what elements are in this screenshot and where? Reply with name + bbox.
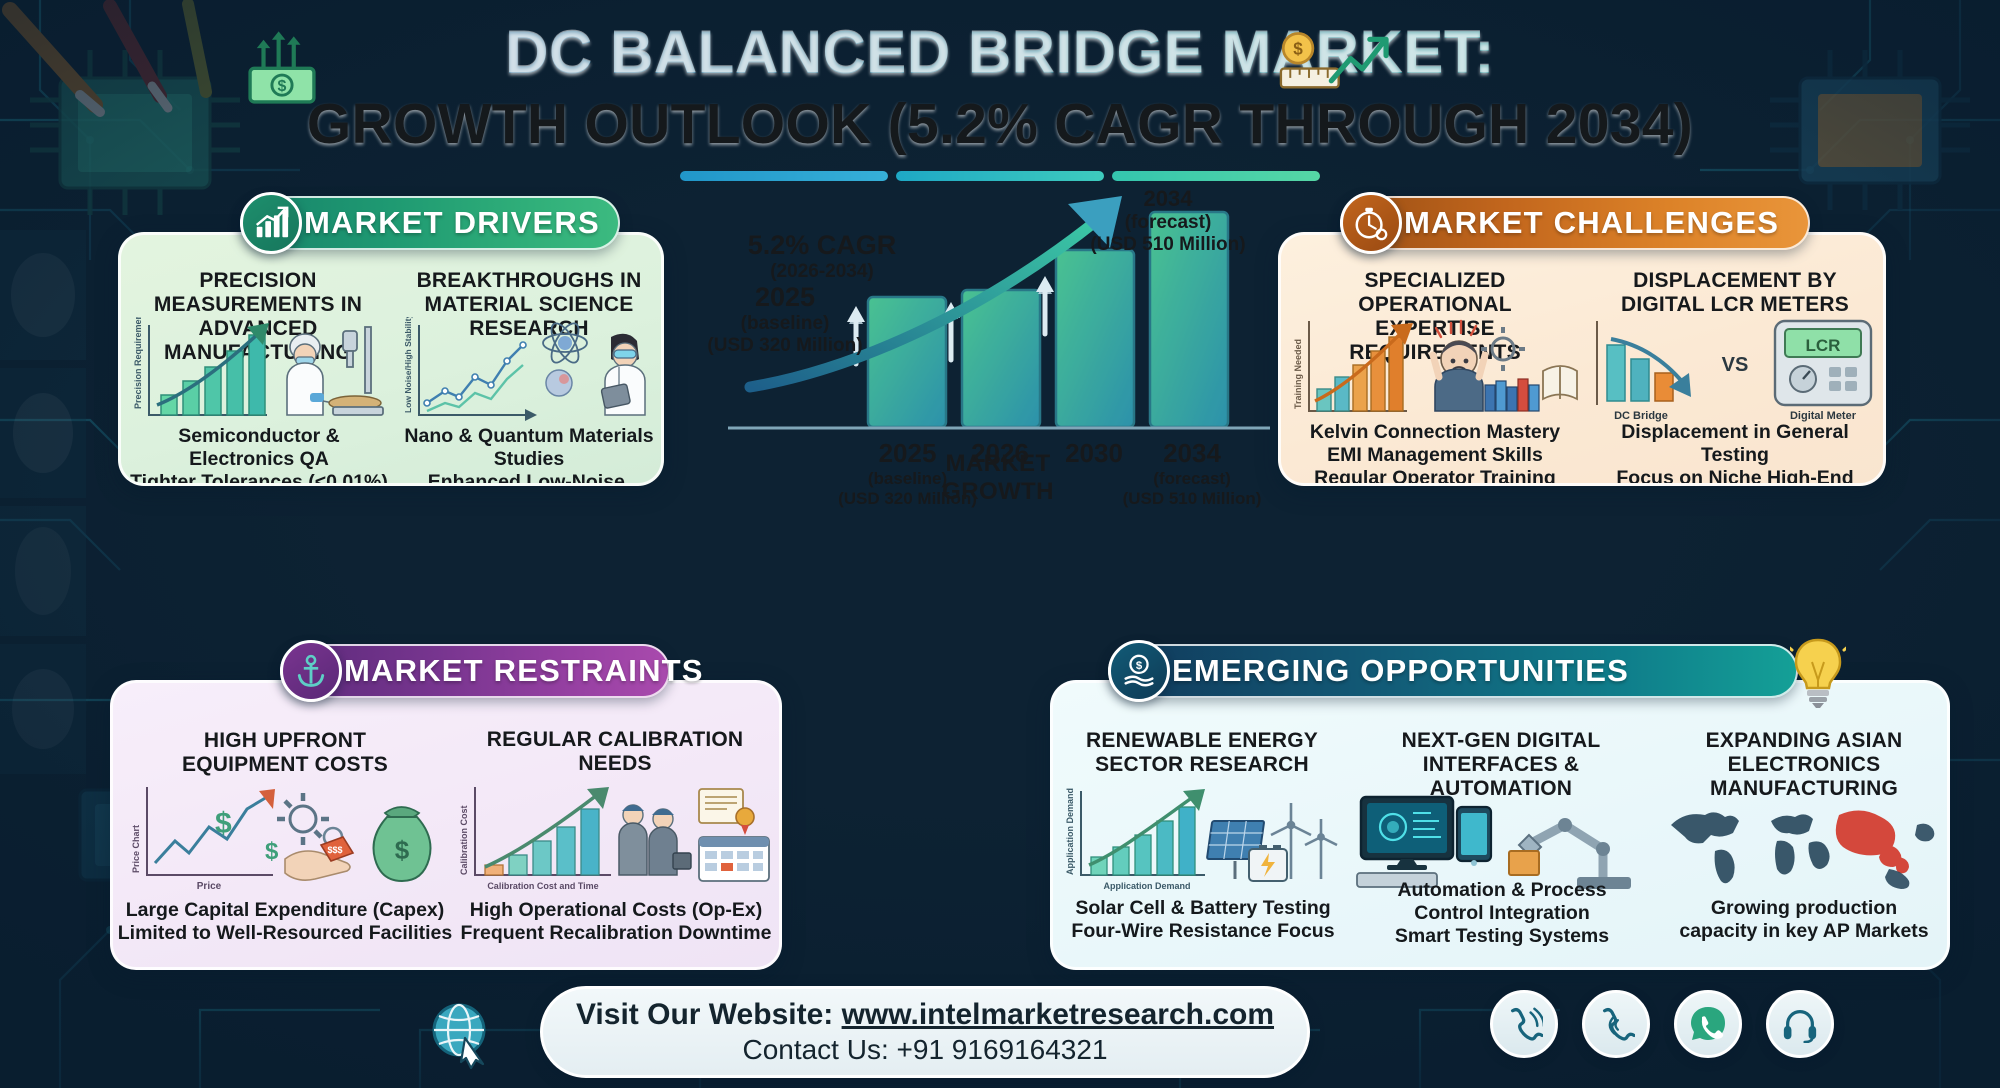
chart-center-label: MARKET GROWTH [908, 450, 1088, 506]
whatsapp-icon[interactable] [1674, 990, 1742, 1058]
challenges-ribbon-label: MARKET CHALLENGES [1404, 205, 1779, 241]
page-title-line1: DC BALANCED BRIDGE MARKET: [300, 18, 1700, 87]
baseline-tag: (baseline) [670, 313, 900, 335]
svg-text:$: $ [395, 835, 410, 865]
forecast-value: (USD 510 Million) [1048, 234, 1288, 256]
phone-ring-icon[interactable] [1490, 990, 1558, 1058]
svg-text:Training Needed: Training Needed [1293, 339, 1303, 409]
svg-text:Calibration Cost: Calibration Cost [459, 805, 469, 875]
website-link[interactable]: www.intelmarketresearch.com [842, 998, 1274, 1031]
cagr-value: 5.2% CAGR [712, 230, 932, 261]
cagr-period: (2026-2034) [712, 261, 932, 283]
restraints-ribbon-label: MARKET RESTRAINTS [344, 653, 704, 689]
svg-text:$: $ [1136, 660, 1143, 672]
footer-contact-box: Visit Our Website: www.intelmarketresear… [540, 986, 1310, 1078]
opps-col1-title: RENEWABLE ENERGY SECTOR RESEARCH [1057, 729, 1347, 777]
lightbulb-icon [1790, 636, 1846, 708]
svg-text:$: $ [265, 838, 279, 865]
infographic-header: DC BALANCED BRIDGE MARKET: GROWTH OUTLOO… [300, 18, 1700, 181]
emerging-opportunities-panel: RENEWABLE ENERGY SECTOR RESEARCH NEXT-GE… [1050, 680, 1950, 970]
svg-text:Application Demand: Application Demand [1065, 788, 1075, 875]
svg-text:$: $ [278, 78, 287, 95]
money-growth-icon: $ [240, 28, 324, 112]
opps-panel-body: RENEWABLE ENERGY SECTOR RESEARCH NEXT-GE… [1050, 680, 1950, 970]
world-map-asia-highlight-icon [1653, 795, 1949, 891]
opps-column-1: RENEWABLE ENERGY SECTOR RESEARCH [1057, 729, 1347, 777]
market-challenges-panel: SPECIALIZED OPERATIONAL EXPERTISE REQUIR… [1278, 232, 1886, 486]
challenges-col2-caption: Displacement in General Testing Focus on… [1585, 421, 1885, 486]
challenges-panel-body: SPECIALIZED OPERATIONAL EXPERTISE REQUIR… [1278, 232, 1886, 486]
opps-column-3: EXPANDING ASIAN ELECTRONICS MANUFACTURIN… [1659, 729, 1949, 801]
header-accent-bars [680, 171, 1320, 181]
baseline-year: 2025 [670, 282, 900, 313]
drivers-col2-caption: Nano & Quantum Materials Studies Enhance… [393, 425, 664, 486]
challenges-column-2: DISPLACEMENT BY DIGITAL LCR METERS [1587, 269, 1883, 317]
market-challenges-ribbon: MARKET CHALLENGES [1340, 196, 1810, 250]
stopwatch-gear-icon [1340, 192, 1402, 254]
social-contact-icons [1490, 990, 1834, 1058]
svg-text:$$$: $$$ [327, 845, 342, 855]
emerging-opportunities-ribbon: EMERGING OPPORTUNITIES [1108, 644, 1798, 698]
restraints-col2-title-real: REGULAR CALIBRATION NEEDS [453, 728, 777, 776]
technicians-certificate-calendar-icon: Calibration Cost Calibration Cost and Ti… [455, 783, 779, 895]
opps-col2-caption: Automation & Process Control Integration… [1349, 879, 1655, 948]
drivers-panel-body: PRECISION MEASUREMENTS IN ADVANCED MANUF… [118, 232, 664, 486]
x-tick-2034: 2034 (forecast) (USD 510 Million) [1094, 438, 1290, 509]
svg-text:VS: VS [1722, 354, 1749, 376]
dc-bridge-vs-lcr-meter-icon: DC Bridge VS LCR Digital Meter [1589, 315, 1881, 423]
svg-text:$: $ [1293, 39, 1303, 59]
forecast-tag: (forecast) [1048, 212, 1288, 234]
drivers-ribbon-label: MARKET DRIVERS [304, 205, 600, 241]
chart-baseline-annotation: 2025 (baseline) (USD 320 Million) [670, 282, 900, 357]
restraints-col2-caption: High Operational Costs (Op-Ex) Frequent … [451, 899, 781, 945]
svg-text:Precision Requirements: Precision Requirements [133, 317, 143, 409]
chart-center-label-line1: MARKET [908, 450, 1088, 478]
growth-arrow-icon [1318, 26, 1392, 100]
bar-chart-growth-icon [240, 192, 302, 254]
money-bag-dollar-hand-icon: Price Chart Price $ $ $$$ [123, 783, 449, 895]
market-restraints-panel: HIGH UPFRONT EQUIPMENT COSTS HIGH UPFRON… [110, 680, 782, 970]
restraints-col1-title: HIGH UPFRONT EQUIPMENT COSTS [121, 729, 449, 777]
svg-text:Price: Price [197, 881, 222, 892]
atom-scientist-icon: Low Noise/High Stability [397, 317, 661, 423]
footer-website-prefix: Visit Our Website: [576, 998, 842, 1031]
footer-website-line: Visit Our Website: www.intelmarketresear… [576, 998, 1274, 1032]
opps-ribbon-label: EMERGING OPPORTUNITIES [1172, 653, 1629, 689]
hand-holding-coin-icon: $ [1108, 640, 1170, 702]
restraints-column-2: HIGH UPFRONT REGULAR CALIBRATION NEEDS [453, 729, 777, 776]
market-growth-chart: 5.2% CAGR (2026-2034) 2025 (baseline) (U… [670, 182, 1290, 612]
baseline-value: (USD 320 Million) [670, 335, 900, 357]
opps-col3-caption: Growing production capacity in key AP Ma… [1657, 897, 1950, 943]
chart-cagr-annotation: 5.2% CAGR (2026-2034) [712, 230, 932, 283]
accent-bar-1 [680, 171, 888, 181]
cleanroom-technician-microscope-icon: Precision Requirements [127, 317, 391, 423]
forecast-year: 2034 [1048, 186, 1288, 212]
page-title-line2: GROWTH OUTLOOK (5.2% CAGR THROUGH 2034) [300, 91, 1700, 157]
accent-bar-2 [896, 171, 1104, 181]
market-drivers-panel: PRECISION MEASUREMENTS IN ADVANCED MANUF… [118, 232, 664, 486]
restraints-col1-caption: Large Capital Expenditure (Capex) Limite… [117, 899, 453, 945]
opps-col3-title: EXPANDING ASIAN ELECTRONICS MANUFACTURIN… [1659, 729, 1949, 801]
svg-text:Calibration Cost and Time: Calibration Cost and Time [487, 881, 598, 891]
restraints-panel-body: HIGH UPFRONT EQUIPMENT COSTS HIGH UPFRON… [110, 680, 782, 970]
svg-text:LCR: LCR [1806, 336, 1841, 355]
footer-contact-line: Contact Us: +91 9169164321 [742, 1034, 1107, 1066]
chart-forecast-annotation: 2034 (forecast) (USD 510 Million) [1048, 186, 1288, 256]
restraints-column-1: HIGH UPFRONT EQUIPMENT COSTS [121, 729, 449, 777]
headset-support-icon[interactable] [1766, 990, 1834, 1058]
chart-center-label-line2: GROWTH [908, 478, 1088, 506]
globe-cursor-icon [425, 998, 497, 1070]
phone-signal-icon[interactable] [1582, 990, 1650, 1058]
challenges-col2-title: DISPLACEMENT BY DIGITAL LCR METERS [1587, 269, 1883, 317]
svg-text:$: $ [215, 807, 232, 840]
challenges-col1-caption: Kelvin Connection Mastery EMI Management… [1285, 421, 1585, 486]
opps-col1-caption: Solar Cell & Battery Testing Four-Wire R… [1057, 897, 1349, 943]
accent-bar-3 [1112, 171, 1320, 181]
solar-panel-wind-battery-icon: Application Demand Application Demand [1059, 787, 1347, 895]
svg-text:Application Demand: Application Demand [1103, 881, 1190, 891]
drivers-col1-caption: Semiconductor & Electronics QA Tighter T… [125, 425, 393, 486]
svg-text:Price Chart: Price Chart [131, 825, 141, 873]
stressed-operator-books-icon: Training Needed [1289, 315, 1583, 423]
anchor-icon [280, 640, 342, 702]
svg-text:Low Noise/High Stability: Low Noise/High Stability [403, 317, 413, 413]
